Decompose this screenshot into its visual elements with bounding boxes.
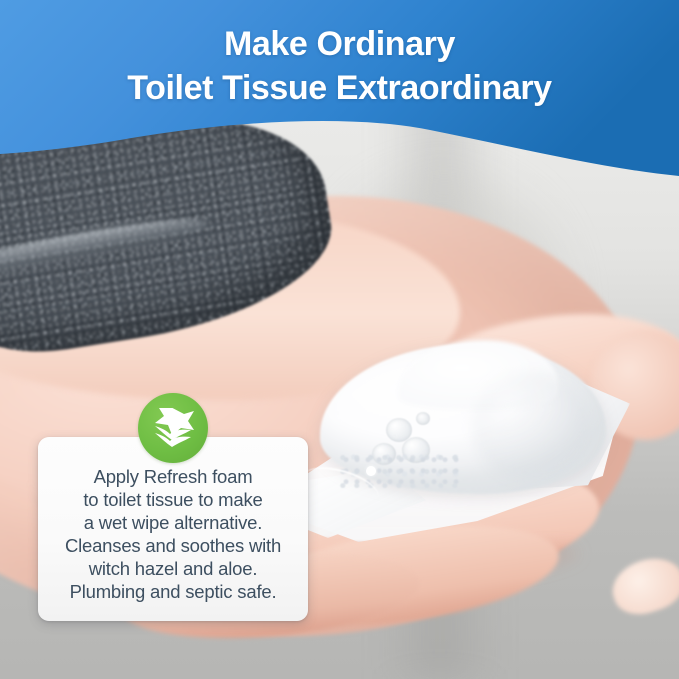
product-lifestyle-image: Make Ordinary Toilet Tissue Extraordinar… (0, 0, 679, 679)
foam-bubble (416, 412, 430, 425)
foam-droplet (366, 466, 376, 476)
info-line-5: witch hazel and aloe. (44, 557, 302, 580)
foam-shading (472, 372, 592, 482)
banner-wave-shape (0, 0, 679, 190)
tissue-badge (138, 393, 208, 463)
header-banner: Make Ordinary Toilet Tissue Extraordinar… (0, 0, 679, 190)
info-callout-text: Apply Refresh foam to toilet tissue to m… (44, 465, 302, 603)
info-line-4: Cleanses and soothes with (44, 534, 302, 557)
info-line-3: a wet wipe alternative. (44, 511, 302, 534)
stacked-tissue-sheets-icon (151, 407, 195, 449)
info-line-2: to toilet tissue to make (44, 488, 302, 511)
info-callout-card: Apply Refresh foam to toilet tissue to m… (38, 437, 308, 621)
info-line-1: Apply Refresh foam (44, 465, 302, 488)
info-line-6: Plumbing and septic safe. (44, 580, 302, 603)
